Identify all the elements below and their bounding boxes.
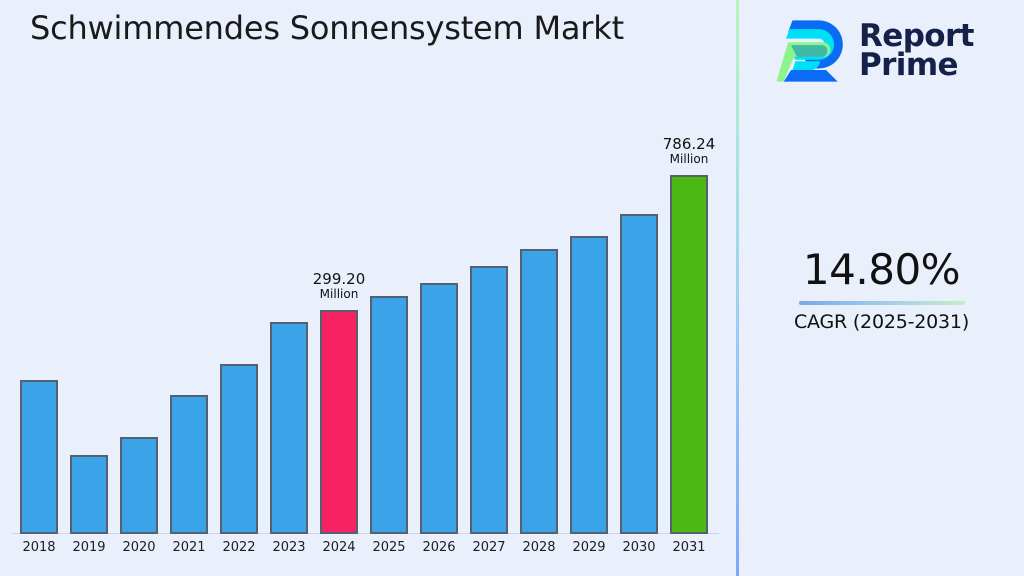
x-axis-tick-2031: 2031	[659, 540, 719, 555]
bar-label-2031-unit: Million	[629, 153, 749, 166]
brand-logo: Report Prime	[773, 12, 1023, 90]
bar-2019[interactable]	[70, 455, 108, 534]
cagr-divider	[799, 301, 965, 305]
cagr-block: 14.80% CAGR (2025-2031)	[739, 248, 1024, 333]
x-axis-baseline	[12, 533, 719, 534]
bar-label-2024-value: 299.20	[279, 271, 399, 288]
bar-2023[interactable]	[270, 322, 308, 534]
bar-2018[interactable]	[20, 380, 58, 534]
brand-wordmark: Report Prime	[859, 22, 974, 81]
bar-2021[interactable]	[170, 395, 208, 534]
cagr-caption: CAGR (2025-2031)	[739, 311, 1024, 333]
bar-2029[interactable]	[570, 236, 608, 534]
info-panel: Report Prime 14.80% CAGR (2025-2031)	[739, 0, 1024, 576]
bar-2030[interactable]	[620, 214, 658, 534]
bar-2027[interactable]	[470, 266, 508, 534]
bar-2022[interactable]	[220, 364, 258, 534]
report-prime-logo-mark-icon	[773, 16, 847, 86]
chart-page: Schwimmendes Sonnensystem Markt 20182019…	[0, 0, 1024, 576]
bar-2024[interactable]	[320, 310, 358, 534]
cagr-value: 14.80%	[739, 248, 1024, 292]
brand-line-2: Prime	[859, 51, 974, 80]
bar-2025[interactable]	[370, 296, 408, 534]
bar-label-2031-value: 786.24	[629, 136, 749, 153]
bar-2026[interactable]	[420, 283, 458, 534]
bar-2028[interactable]	[520, 249, 558, 534]
bar-label-2031: 786.24Million	[629, 136, 749, 166]
bar-2031[interactable]	[670, 175, 708, 534]
bar-2020[interactable]	[120, 437, 158, 534]
plot-area: 2018201920202021202220232024202520262027…	[0, 0, 737, 576]
chart-panel: Schwimmendes Sonnensystem Markt 20182019…	[0, 0, 737, 576]
